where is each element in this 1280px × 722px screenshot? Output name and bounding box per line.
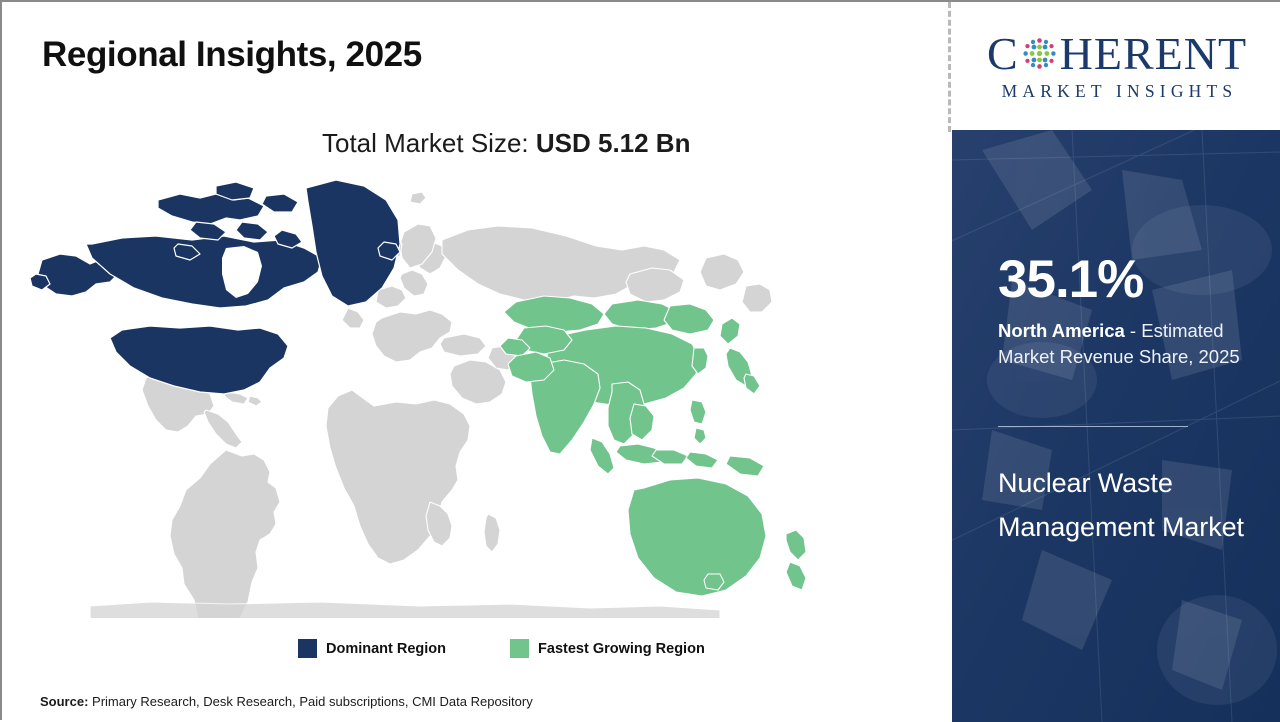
left-content-pane: Regional Insights, 2025 Total Market Siz… <box>2 2 950 722</box>
infographic-root: Regional Insights, 2025 Total Market Siz… <box>0 0 1280 720</box>
total-market-size-value: USD 5.12 Bn <box>536 128 691 158</box>
stat-caption: North America - Estimated Market Revenue… <box>998 318 1260 371</box>
source-text: Primary Research, Desk Research, Paid su… <box>88 694 532 709</box>
map-dominant-region <box>30 180 400 394</box>
market-name: Nuclear Waste Management Market <box>998 462 1250 549</box>
brand-wordmark-post: HERENT <box>1060 31 1247 77</box>
source-label: Source: <box>40 694 88 709</box>
vertical-dashed-divider <box>948 2 951 132</box>
stat-panel: 35.1% North America - Estimated Market R… <box>952 130 1280 722</box>
legend-swatch-dominant <box>298 639 317 658</box>
brand-wordmark: C <box>987 31 1247 77</box>
stat-panel-content: 35.1% North America - Estimated Market R… <box>998 130 1266 722</box>
legend-item-fastest-growing: Fastest Growing Region <box>510 639 705 658</box>
stat-percent-value: 35.1% <box>998 253 1143 306</box>
total-market-size-label: Total Market Size: <box>322 128 536 158</box>
panel-divider <box>998 426 1188 427</box>
right-panel: C <box>952 2 1280 722</box>
legend-label-fastest-growing: Fastest Growing Region <box>538 641 705 657</box>
brand-subtext: MARKET INSIGHTS <box>997 81 1238 102</box>
map-fastest-growing-region <box>500 296 806 596</box>
stat-caption-region: North America <box>998 320 1125 341</box>
brand-logo: C <box>952 2 1280 130</box>
globe-dots-icon <box>1021 35 1058 72</box>
legend-item-dominant: Dominant Region <box>298 639 446 658</box>
legend-label-dominant: Dominant Region <box>326 641 446 657</box>
map-legend: Dominant Region Fastest Growing Region <box>298 639 705 658</box>
world-map-container <box>30 178 850 618</box>
source-note: Source: Primary Research, Desk Research,… <box>40 694 533 709</box>
world-map-svg <box>30 178 850 618</box>
total-market-size: Total Market Size: USD 5.12 Bn <box>322 128 690 159</box>
brand-wordmark-pre: C <box>987 31 1019 77</box>
legend-swatch-fastest-growing <box>510 639 529 658</box>
page-title: Regional Insights, 2025 <box>42 35 422 75</box>
